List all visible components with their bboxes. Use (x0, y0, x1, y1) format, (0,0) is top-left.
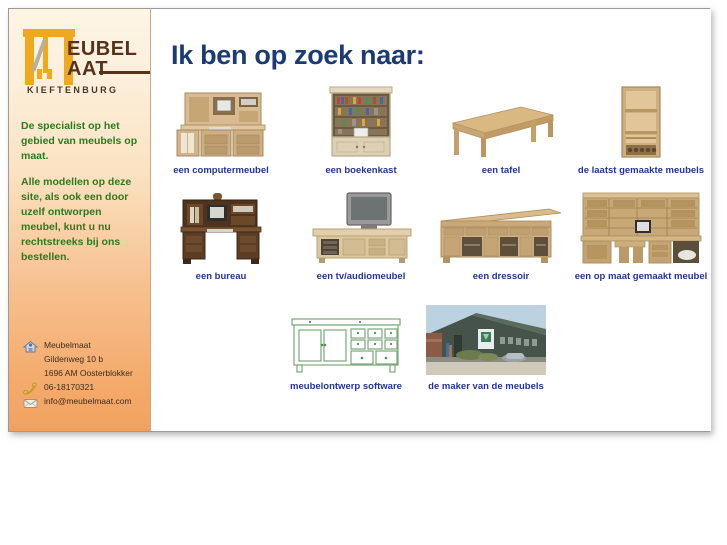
product-item-tv-audiomeubel[interactable]: een tv/audiomeubel (291, 191, 431, 283)
custom-bookwall-photo (571, 191, 711, 265)
product-item-ontwerp-software[interactable]: meubelontwerp software (276, 301, 416, 393)
contact-street-row: Gildenweg 10 b (23, 353, 145, 366)
product-label: een bureau (151, 271, 291, 283)
product-label: een dressoir (431, 271, 571, 283)
sideboard-photo (431, 191, 571, 265)
tv-cabinet-photo (291, 191, 431, 265)
product-label: een op maat gemaakt meubel (571, 271, 711, 283)
product-label: een tv/audiomeubel (291, 271, 431, 283)
product-item-tafel[interactable]: een tafel (431, 85, 571, 177)
wine-cabinet-photo (571, 85, 711, 159)
house-icon (23, 340, 39, 353)
contact-street: Gildenweg 10 b (23, 353, 103, 366)
logo-word-maat: AAT (67, 59, 108, 79)
product-label: de maker van de meubels (416, 381, 556, 393)
contact-email-row: info@meubelmaat.com (23, 395, 145, 408)
workshop-building-photo (416, 301, 556, 375)
page-frame: EUBEL AAT KIEFTENBURG De specialist op h… (8, 8, 710, 432)
contact-company-row: Meubelmaat (23, 339, 145, 352)
bookcase-photo (291, 85, 431, 159)
product-label: een boekenkast (291, 165, 431, 177)
product-item-bureau[interactable]: een bureau (151, 191, 291, 283)
product-item-computermeubel[interactable]: een computermeubel (151, 85, 291, 177)
design-software-drawing (276, 301, 416, 375)
contact-phone-row: 06-18170321 (23, 381, 145, 394)
contact-city-row: 1696 AM Oosterblokker (23, 367, 145, 380)
blurb-paragraph-1: De specialist op het gebied van meubels … (21, 119, 140, 164)
page-title: Ik ben op zoek naar: (171, 40, 711, 71)
product-item-laatst-gemaakte[interactable]: de laatst gemaakte meubels (571, 85, 711, 177)
contact-phone[interactable]: 06-18170321 (44, 381, 94, 394)
product-item-boekenkast[interactable]: een boekenkast (291, 85, 431, 177)
sidebar-blurb: De specialist op het gebied van meubels … (21, 119, 140, 265)
site-logo[interactable]: EUBEL AAT KIEFTENBURG (9, 27, 150, 105)
computer-desk-photo (151, 85, 291, 159)
main-content: Ik ben op zoek naar: (151, 9, 711, 431)
product-row-3: meubelontwerp software (151, 301, 711, 393)
phone-icon (23, 382, 39, 395)
envelope-icon (23, 396, 39, 409)
product-label: een computermeubel (151, 165, 291, 177)
logo-word-meubel: EUBEL (67, 39, 137, 59)
product-row-1: een computermeubel (151, 85, 711, 177)
product-label: een tafel (431, 165, 571, 177)
product-label: de laatst gemaakte meubels (571, 165, 711, 177)
product-row-2: een bureau (151, 191, 711, 283)
logo-rule (99, 71, 151, 74)
product-label: meubelontwerp software (276, 381, 416, 393)
contact-email[interactable]: info@meubelmaat.com (44, 395, 132, 408)
product-item-dressoir[interactable]: een dressoir (431, 191, 571, 283)
blurb-paragraph-2: Alle modellen op deze site, als ook een … (21, 175, 140, 265)
writing-desk-photo (151, 191, 291, 265)
table-photo (431, 85, 571, 159)
contact-city: 1696 AM Oosterblokker (23, 367, 133, 380)
logo-subtitle: KIEFTENBURG (27, 85, 118, 95)
product-item-maker-van-meubels[interactable]: de maker van de meubels (416, 301, 556, 393)
contact-block: Meubelmaat Gildenweg 10 b 1696 AM Ooster… (23, 339, 145, 409)
product-item-op-maat-gemaakt[interactable]: een op maat gemaakt meubel (571, 191, 711, 283)
contact-company: Meubelmaat (44, 339, 91, 352)
sidebar: EUBEL AAT KIEFTENBURG De specialist op h… (9, 9, 151, 431)
